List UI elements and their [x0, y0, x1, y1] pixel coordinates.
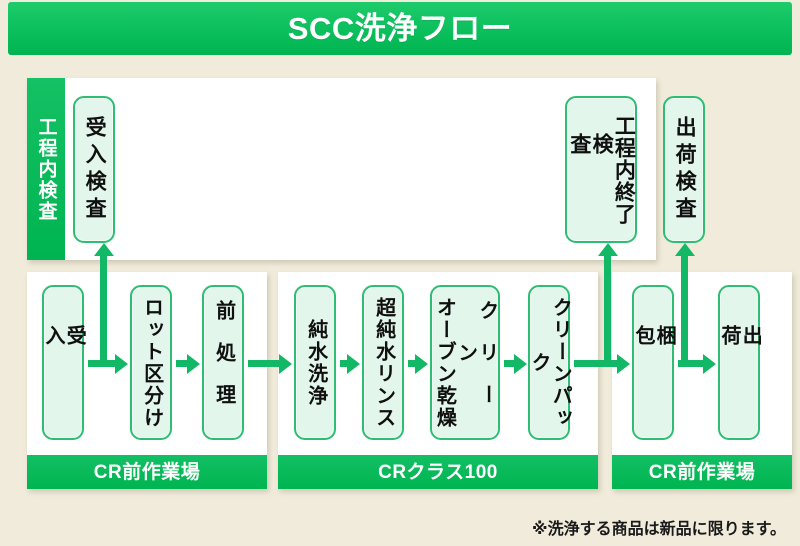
footnote: ※洗浄する商品は新品に限ります。: [532, 522, 786, 538]
arrow-junsui-to-chojunsui: [340, 360, 348, 367]
inspection-panel: 工程内検査: [27, 78, 656, 260]
arrow-up-to-uketsuke-kensa: [100, 255, 107, 364]
arrow-oven-to-cleanpack: [504, 360, 515, 367]
arrow-maeshori-to-junsui: [248, 360, 280, 367]
step-box-chojunsui[interactable]: 超純水リンス: [362, 285, 404, 440]
step-box-cleanpack-label: クリーンパック: [528, 287, 570, 438]
step-box-maeshori[interactable]: 前処理: [202, 285, 244, 440]
step-box-chojunsui-label: 超純水リンス: [372, 297, 393, 429]
header-banner: SCC洗浄フロー: [8, 2, 792, 55]
arrow-lot-to-maeshori: [176, 360, 188, 367]
step-box-clean-oven-label-col2: オーブン乾燥: [433, 297, 454, 429]
step-box-konpou[interactable]: 梱包: [632, 285, 674, 440]
step-box-lot[interactable]: ロット区分け: [130, 285, 172, 440]
arrow-up-to-shukka-kensa: [681, 255, 688, 364]
step-box-maeshori-label: 前処理: [212, 300, 233, 426]
step-box-clean-oven-label-col1: クリーン: [454, 287, 496, 438]
step-box-junsui[interactable]: 純水洗浄: [294, 285, 336, 440]
step-box-konpou-label: 梱包: [632, 287, 674, 438]
inspection-side-label-text: 工程内検査: [37, 117, 56, 222]
arrow-chojunsui-to-oven: [408, 360, 416, 367]
zone-cr100-footer-label: CRクラス100: [378, 463, 498, 482]
inspection-box-koutei-shuryo-kensa[interactable]: 工程内終了 検査: [565, 96, 637, 243]
step-box-lot-label: ロット区分け: [140, 297, 161, 429]
inspection-side-label: 工程内検査: [27, 78, 65, 260]
inspection-box-koutei-shuryo-kensa-label-col1: 工程内終了: [612, 115, 634, 225]
inspection-box-uketsuke-kensa-label: 受入検査: [83, 116, 105, 224]
page-title: SCC洗浄フロー: [288, 13, 512, 44]
inspection-box-koutei-shuryo-kensa-label-col2: 検査: [568, 98, 613, 241]
zone-pre-footer-label: CR前作業場: [94, 463, 200, 482]
step-box-uketsuke-label: 受入: [42, 287, 84, 438]
step-box-junsui-label: 純水洗浄: [304, 319, 325, 407]
zone-post-footer-label: CR前作業場: [649, 463, 755, 482]
zone-post-footer: CR前作業場: [612, 455, 792, 489]
step-box-shukka[interactable]: 出荷: [718, 285, 760, 440]
step-box-shukka-label: 出荷: [718, 287, 760, 438]
zone-pre-footer: CR前作業場: [27, 455, 267, 489]
arrow-up-to-koutei-shuryo-kensa: [604, 255, 611, 364]
arrow-cleanpack-to-konpou: [574, 360, 618, 367]
zone-cr100-footer: CRクラス100: [278, 455, 598, 489]
step-box-clean-oven[interactable]: クリーン オーブン乾燥: [430, 285, 500, 440]
step-box-uketsuke[interactable]: 受入: [42, 285, 84, 440]
step-box-cleanpack[interactable]: クリーンパック: [528, 285, 570, 440]
inspection-box-shukka-kensa-label: 出荷検査: [673, 116, 695, 224]
inspection-box-uketsuke-kensa[interactable]: 受入検査: [73, 96, 115, 243]
inspection-box-shukka-kensa[interactable]: 出荷検査: [663, 96, 705, 243]
